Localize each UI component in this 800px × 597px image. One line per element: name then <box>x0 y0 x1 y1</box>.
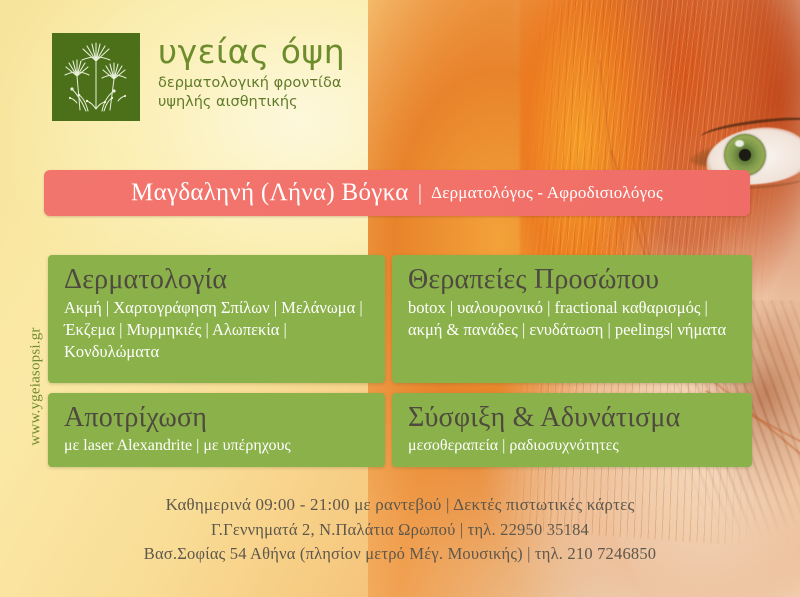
footer: Καθημερινά 09:00 - 21:00 με ραντεβού | Δ… <box>0 492 800 567</box>
service-title: Δερματολογία <box>64 264 371 295</box>
website-url-vertical[interactable]: www.ygeiasopsi.gr <box>28 277 45 497</box>
banner-separator: | <box>418 180 422 206</box>
service-card-facial-treatments[interactable]: Θεραπείες Προσώπου botox | υαλουρονικό |… <box>392 255 752 383</box>
service-items: μεσοθεραπεία | ραδιοσυχνότητες <box>408 435 738 456</box>
service-items: με laser Alexandrite | με υπέρηχους <box>64 435 371 456</box>
services-grid: Δερματολογία Ακμή | Χαρτογράφηση Σπίλων … <box>48 255 752 467</box>
service-title: Θεραπείες Προσώπου <box>408 264 738 295</box>
brand-title: υγείας όψη <box>158 35 345 70</box>
brand-subtitle-line1: δερματολογική φροντίδα <box>158 74 345 94</box>
service-title: Σύσφιξη & Αδυνάτισμα <box>408 402 738 433</box>
service-items: botox | υαλουρονικό | fractional καθαρισ… <box>408 297 738 341</box>
brand-subtitle-line2: υψηλής αισθητικής <box>158 93 345 113</box>
brand-logo[interactable]: υγείας όψη δερματολογική φροντίδα υψηλής… <box>52 33 345 121</box>
service-card-hair-removal[interactable]: Αποτρίχωση με laser Alexandrite | με υπέ… <box>48 393 385 467</box>
doctor-name: Μαγδαληνή (Λήνα) Βόγκα <box>131 179 409 207</box>
footer-address-oropos: Γ.Γεννηματά 2, Ν.Παλάτια Ωρωπού | τηλ. 2… <box>0 518 800 543</box>
footer-hours: Καθημερινά 09:00 - 21:00 με ραντεβού | Δ… <box>0 492 800 518</box>
service-card-dermatology[interactable]: Δερματολογία Ακμή | Χαρτογράφηση Σπίλων … <box>48 255 385 383</box>
footer-address-athens: Βασ.Σοφίας 54 Αθήνα (πλησίον μετρό Μέγ. … <box>0 542 800 567</box>
doctor-name-banner: Μαγδαληνή (Λήνα) Βόγκα | Δερματολόγος - … <box>44 170 750 216</box>
service-title: Αποτρίχωση <box>64 402 371 433</box>
service-card-firming-slimming[interactable]: Σύσφιξη & Αδυνάτισμα μεσοθεραπεία | ραδι… <box>392 393 752 467</box>
service-items: Ακμή | Χαρτογράφηση Σπίλων | Μελάνωμα | … <box>64 297 371 362</box>
dandelion-flowers-icon <box>52 33 140 121</box>
doctor-specialty: Δερματολόγος - Αφροδισιολόγος <box>431 183 663 203</box>
